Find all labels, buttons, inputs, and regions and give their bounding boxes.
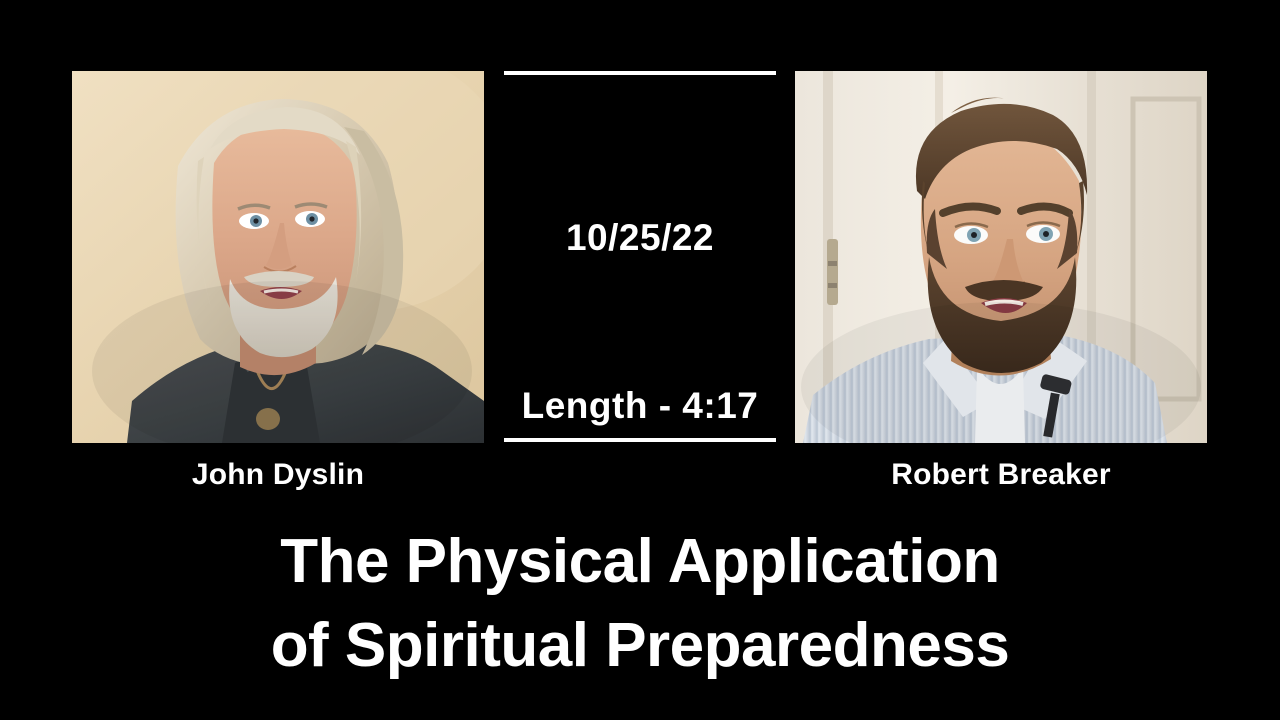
- divider-top: [504, 71, 776, 75]
- title-line-2: of Spiritual Preparedness: [0, 604, 1280, 688]
- portrait-john-dyslin-image: [72, 71, 484, 443]
- length-text: Length - 4:17: [504, 387, 776, 424]
- divider-bottom: [504, 438, 776, 442]
- date-text: 10/25/22: [504, 219, 776, 256]
- speaker-name-right: Robert Breaker: [795, 458, 1207, 491]
- video-title: The Physical Application of Spiritual Pr…: [0, 520, 1280, 689]
- portrait-robert-breaker: [795, 71, 1207, 443]
- video-thumbnail: 10/25/22 Length - 4:17: [0, 0, 1280, 720]
- portrait-john-dyslin: [72, 71, 484, 443]
- title-line-1: The Physical Application: [0, 520, 1280, 604]
- speaker-name-left: John Dyslin: [72, 458, 484, 491]
- info-panel: 10/25/22 Length - 4:17: [504, 71, 776, 443]
- portrait-robert-breaker-image: [795, 71, 1207, 443]
